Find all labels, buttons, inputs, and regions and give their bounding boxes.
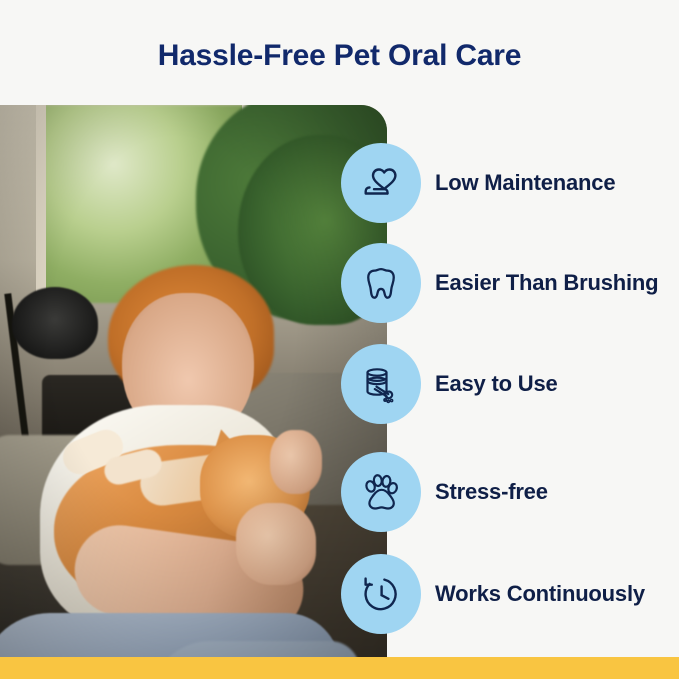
feature-label: Easy to Use: [435, 371, 558, 397]
page-title: Hassle-Free Pet Oral Care: [0, 38, 679, 74]
lifestyle-photo: [0, 105, 387, 657]
feature-item-easier-than-brushing[interactable]: Easier Than Brushing: [341, 243, 679, 323]
paw-print-icon: [341, 452, 421, 532]
feature-label: Low Maintenance: [435, 170, 615, 196]
feature-label: Stress-free: [435, 479, 548, 505]
jar-scoop-icon: [341, 344, 421, 424]
clock-cycle-icon: [341, 554, 421, 634]
feature-item-stress-free[interactable]: Stress-free: [341, 452, 679, 532]
heart-rest-icon: [341, 143, 421, 223]
photo-vignette: [0, 105, 387, 657]
promo-card: Hassle-Free Pet Oral Care: [0, 0, 679, 679]
feature-item-low-maintenance[interactable]: Low Maintenance: [341, 143, 679, 223]
bottom-accent-bar: [0, 657, 679, 679]
tooth-icon: [341, 243, 421, 323]
feature-item-easy-to-use[interactable]: Easy to Use: [341, 344, 679, 424]
feature-item-works-continuously[interactable]: Works Continuously: [341, 554, 679, 634]
feature-label: Works Continuously: [435, 581, 645, 607]
feature-label: Easier Than Brushing: [435, 270, 658, 296]
